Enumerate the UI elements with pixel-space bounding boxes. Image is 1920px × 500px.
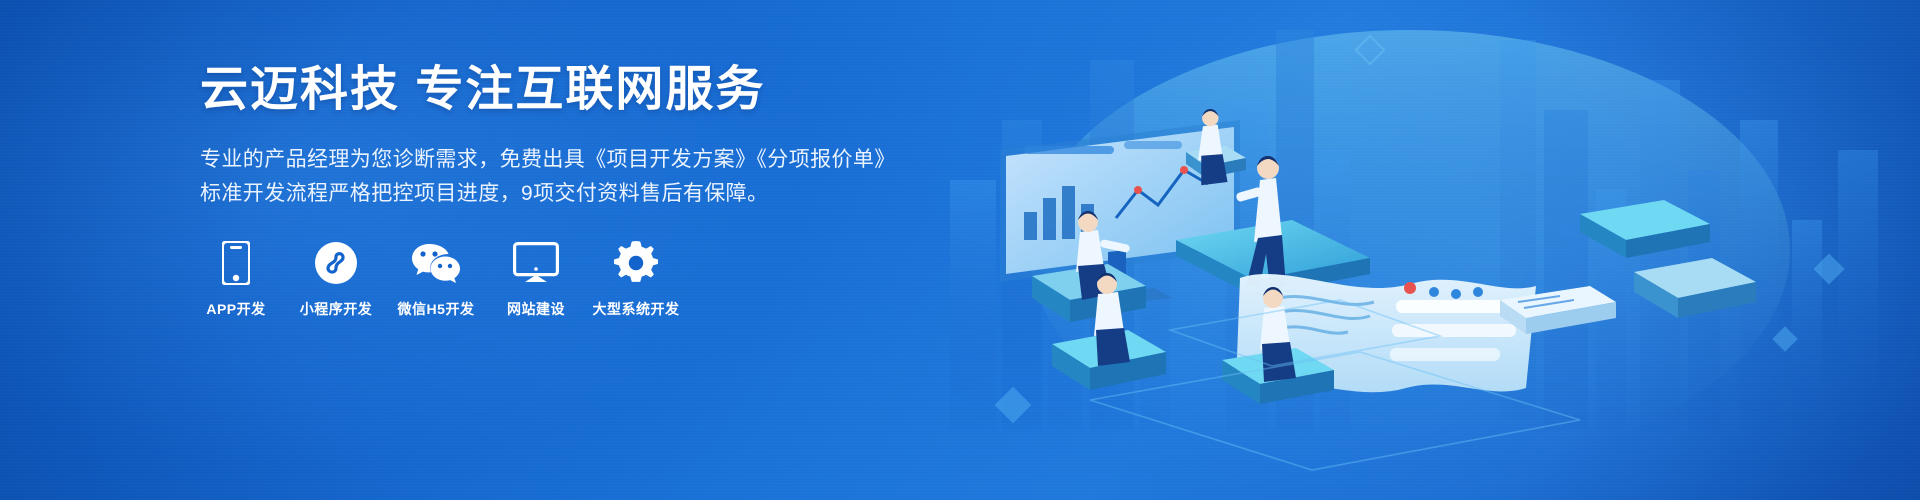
service-item-website[interactable]: 网站建设 (500, 241, 572, 319)
isometric-tech-illustration (940, 0, 1920, 500)
hero-banner: 云迈科技 专注互联网服务 专业的产品经理为您诊断需求，免费出具《项目开发方案》《… (0, 0, 1920, 500)
subtitle-line-2: 标准开发流程严格把控项目进度，9项交付资料售后有保障。 (200, 177, 960, 211)
page-title: 云迈科技 专注互联网服务 (200, 62, 960, 117)
wechat-icon (411, 241, 461, 285)
service-item-system[interactable]: 大型系统开发 (600, 241, 672, 319)
service-item-app[interactable]: APP开发 (200, 241, 272, 319)
service-label: 网站建设 (507, 299, 565, 319)
gear-icon (614, 241, 658, 285)
mobile-phone-icon (222, 241, 250, 285)
service-label: APP开发 (206, 299, 265, 319)
service-label: 大型系统开发 (593, 299, 680, 319)
service-label: 小程序开发 (300, 299, 373, 319)
illustration-panel (940, 0, 1920, 500)
monitor-icon (513, 241, 559, 285)
banner-content: 云迈科技 专注互联网服务 专业的产品经理为您诊断需求，免费出具《项目开发方案》《… (200, 62, 960, 319)
mini-program-icon (315, 241, 357, 285)
subtitle-line-1: 专业的产品经理为您诊断需求，免费出具《项目开发方案》《分项报价单》 (200, 143, 960, 177)
service-item-miniprogram[interactable]: 小程序开发 (300, 241, 372, 319)
banner-subtitle: 专业的产品经理为您诊断需求，免费出具《项目开发方案》《分项报价单》 标准开发流程… (200, 143, 960, 211)
service-list: APP开发 小程序开发 (200, 241, 960, 319)
service-label: 微信H5开发 (398, 299, 475, 319)
service-item-wechat[interactable]: 微信H5开发 (400, 241, 472, 319)
